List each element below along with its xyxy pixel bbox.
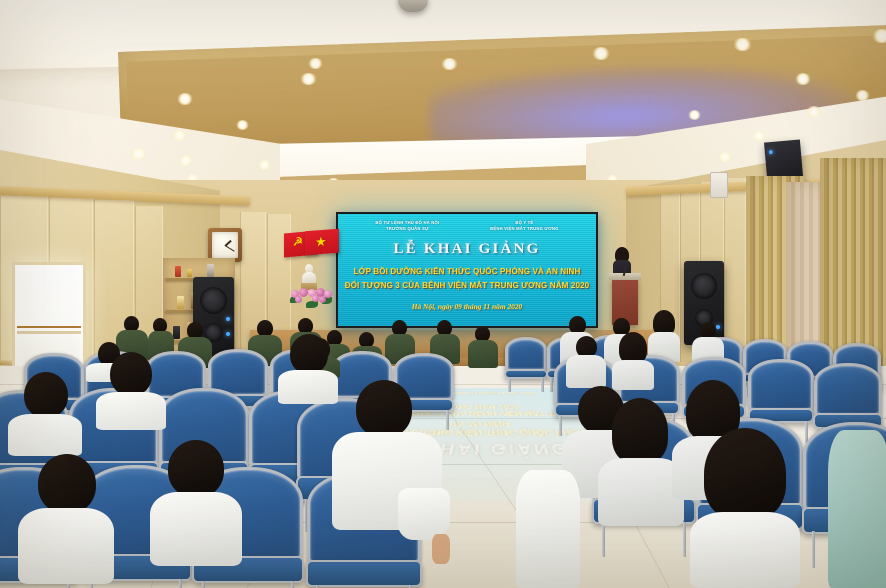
ceiling-downlight <box>718 152 732 162</box>
wall-mounted-box <box>710 172 728 198</box>
flag-group: ☭ ★ <box>284 228 340 262</box>
attendee <box>18 454 114 584</box>
chair[interactable] <box>506 338 546 384</box>
attendee <box>566 336 606 388</box>
ceiling-downlight <box>872 29 886 43</box>
attendee <box>96 352 166 430</box>
trophy <box>177 296 184 309</box>
screen-header-left: BỘ TƯ LỆNH THỦ ĐÔ HÀ NỘI TRƯỜNG QUÂN SỰ <box>375 220 439 233</box>
attendee <box>612 332 654 390</box>
ceiling-downlight <box>733 38 752 51</box>
screen-header-right: BỘ Y TẾ BỆNH VIỆN MẮT TRUNG ƯƠNG <box>490 220 558 233</box>
ceiling-downlight <box>236 120 249 130</box>
window-mullion <box>17 331 81 334</box>
attendee <box>516 470 580 588</box>
ceiling-downlight <box>592 47 610 60</box>
clock-minute-hand <box>225 245 235 252</box>
attendee <box>150 440 242 566</box>
ceiling-downlight <box>308 58 323 69</box>
vietnam-national-flag: ★ <box>305 229 339 255</box>
ceiling-downlight <box>177 93 193 105</box>
screen-subtitle-line-2: ĐỐI TƯỢNG 3 CỦA BỆNH VIỆN MẮT TRUNG ƯƠNG… <box>338 281 596 290</box>
ceiling-downlight <box>178 155 193 166</box>
ceiling-downlight <box>130 148 147 160</box>
wall-panel <box>724 178 746 360</box>
attendee-foreground <box>690 428 800 588</box>
attendee <box>278 334 338 404</box>
conference-hall-photo: BỘ TƯ LỆNH THỦ ĐÔ HÀ NỘI TRƯỜNG QUÂN SỰ … <box>0 0 886 588</box>
ceiling-downlight <box>688 110 701 120</box>
ceiling-downlight <box>806 106 822 118</box>
ceiling-downlight <box>172 130 187 141</box>
attendee <box>8 372 82 456</box>
trophy <box>175 266 181 277</box>
screen-date-line: Hà Nội, ngày 09 tháng 11 năm 2020 <box>338 302 596 311</box>
ceiling-downlight <box>441 58 458 70</box>
attendee-foreground-legs <box>398 488 458 568</box>
ceiling-downlight <box>795 73 811 85</box>
flower-arrangement <box>288 286 334 308</box>
trophy <box>207 264 214 277</box>
screen-subtitle-line-1: LỚP BỒI DƯỠNG KIẾN THỨC QUỐC PHÒNG VÀ AN… <box>338 267 596 276</box>
attendee <box>828 430 886 588</box>
window-blinds[interactable] <box>17 267 81 328</box>
ceiling-downlight <box>752 131 766 141</box>
wall-clock <box>208 228 242 262</box>
ceiling-downlight <box>855 90 870 101</box>
screen-main-title: LỄ KHAI GIẢNG <box>338 241 596 258</box>
led-display-screen: BỘ TƯ LỆNH THỦ ĐÔ HÀ NỘI TRƯỜNG QUÂN SỰ … <box>336 212 598 328</box>
trophy <box>187 269 192 277</box>
ceiling-downlight <box>258 160 271 170</box>
ceiling-downlight <box>300 73 317 85</box>
attendee <box>468 326 498 368</box>
